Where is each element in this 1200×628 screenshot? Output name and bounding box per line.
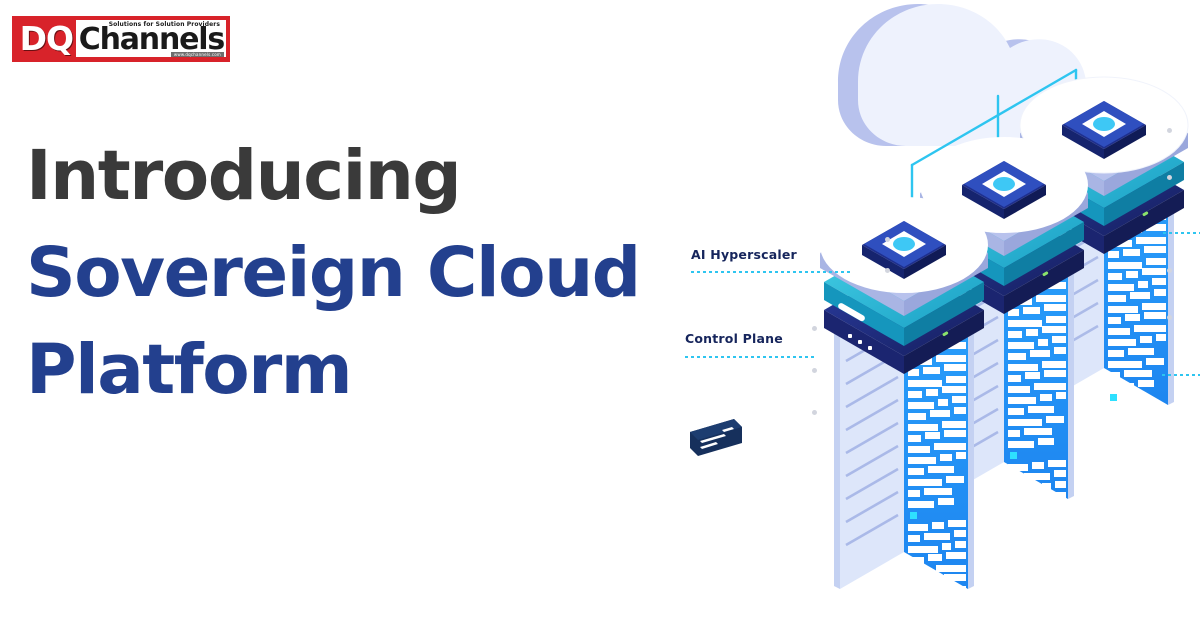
decorative-dot [812, 368, 817, 373]
decorative-dot [1167, 175, 1172, 180]
decorative-dot [1167, 315, 1172, 320]
isometric-scene-svg [650, 0, 1200, 628]
decorative-dot [885, 237, 890, 242]
leader-line-right-lower [1162, 374, 1200, 376]
logo-mark-dq: DQ [17, 20, 76, 57]
label-control-plane: Control Plane [685, 331, 783, 346]
server-card-icon [690, 419, 742, 456]
headline-block: Introducing Sovereign Cloud Platform [26, 128, 646, 419]
decorative-dot [812, 326, 817, 331]
decorative-dot [885, 268, 890, 273]
logo-wordmark-channels: Channels [79, 26, 224, 55]
leader-line-right-upper [1163, 232, 1200, 234]
logo-website-url: www.dqchannels.com [171, 52, 224, 57]
label-ai-hyperscaler: AI Hyperscaler [691, 247, 797, 262]
headline-line-introducing: Introducing [26, 128, 646, 225]
server-tower-front-left [820, 197, 988, 628]
headline-line-sovereign-cloud: Sovereign Cloud [26, 225, 646, 322]
leader-line-control-plane [685, 356, 816, 358]
logo-wordmark-group: Solutions for Solution Providers Channel… [76, 20, 226, 57]
dq-channels-logo[interactable]: DQ Solutions for Solution Providers Chan… [12, 16, 230, 62]
promo-banner: { "brand": { "logo_mark": "DQ", "logo_wo… [0, 0, 1200, 628]
cloud-datacenter-illustration [650, 0, 1200, 628]
decorative-dot [812, 410, 817, 415]
headline-line-platform: Platform [26, 322, 646, 419]
leader-line-ai-hyperscaler [691, 271, 851, 273]
decorative-dot [1167, 268, 1172, 273]
decorative-dot [1167, 128, 1172, 133]
